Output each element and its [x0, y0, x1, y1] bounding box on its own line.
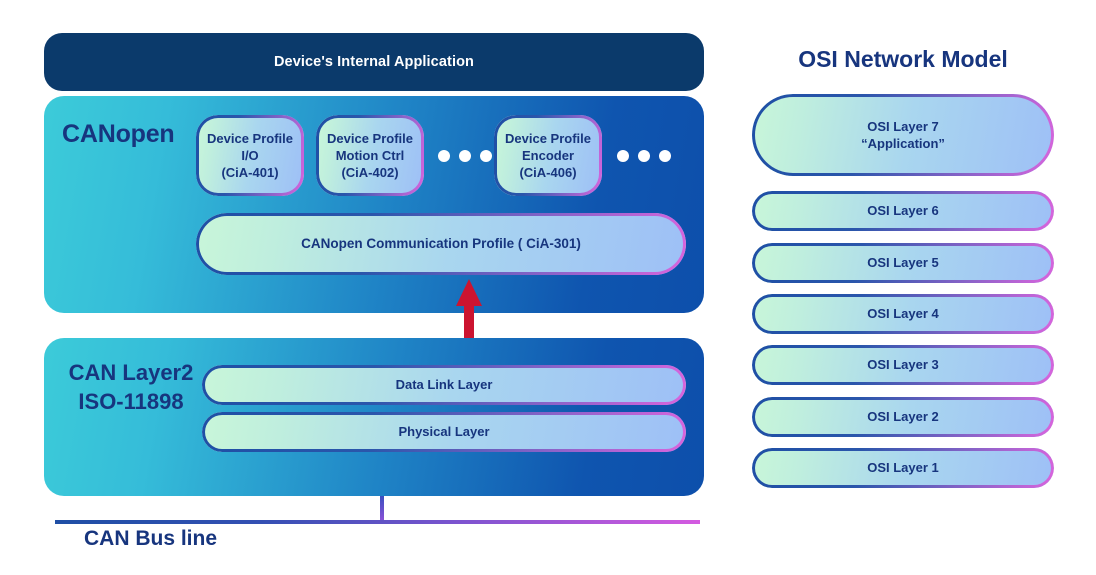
can-layer2-title-line2: ISO-11898	[78, 389, 183, 414]
osi-layer-2-label: OSI Layer 2	[867, 408, 939, 425]
dot-icon	[617, 150, 629, 162]
osi-layer-1-label: OSI Layer 1	[867, 459, 939, 476]
osi-layer-7-text: OSI Layer 7 “Application”	[861, 118, 945, 152]
can-bus-line	[55, 520, 700, 524]
dot-icon	[459, 150, 471, 162]
osi-layer-5-label: OSI Layer 5	[867, 254, 939, 271]
device-profile-io-line3: (CiA-401)	[221, 165, 278, 180]
can-layer2-panel: CAN Layer2 ISO-11898 Data Link Layer Phy…	[44, 338, 704, 496]
dot-icon	[638, 150, 650, 162]
device-profile-io-text: Device Profile I/O (CiA-401)	[207, 130, 293, 181]
osi-layer-1-box: OSI Layer 1	[752, 448, 1054, 488]
device-profile-motion-text: Device Profile Motion Ctrl (CiA-402)	[327, 130, 413, 181]
data-link-layer-bar: Data Link Layer	[202, 365, 686, 405]
can-bus-line-label: CAN Bus line	[84, 527, 217, 551]
can-layer2-title-line1: CAN Layer2	[69, 360, 194, 385]
canopen-communication-profile-bar: CANopen Communication Profile ( CiA-301)	[196, 213, 686, 275]
dot-icon	[438, 150, 450, 162]
osi-layer-3-label: OSI Layer 3	[867, 356, 939, 373]
device-profile-io-line1: Device Profile	[207, 131, 293, 146]
dot-icon	[480, 150, 492, 162]
app-bar-label: Device's Internal Application	[274, 54, 474, 70]
osi-layer-6-label: OSI Layer 6	[867, 202, 939, 219]
canopen-title: CANopen	[62, 120, 174, 149]
osi-layer-6-box: OSI Layer 6	[752, 191, 1054, 231]
ellipsis-dots-icon-1	[438, 150, 492, 162]
device-profile-encoder-line1: Device Profile	[505, 131, 591, 146]
osi-layer-4-label: OSI Layer 4	[867, 305, 939, 322]
dot-icon	[659, 150, 671, 162]
device-profile-motion-line2: Motion Ctrl	[336, 148, 405, 163]
physical-layer-label: Physical Layer	[398, 423, 489, 440]
device-profile-encoder-text: Device Profile Encoder (CiA-406)	[505, 130, 591, 181]
can-layer2-title: CAN Layer2 ISO-11898	[56, 358, 206, 416]
device-profile-motion-line1: Device Profile	[327, 131, 413, 146]
data-link-layer-label: Data Link Layer	[396, 376, 493, 393]
device-profile-encoder-line2: Encoder	[522, 148, 574, 163]
device-internal-application-bar: Device's Internal Application	[44, 33, 704, 91]
osi-layer-3-box: OSI Layer 3	[752, 345, 1054, 385]
canopen-communication-profile-label: CANopen Communication Profile ( CiA-301)	[301, 235, 581, 253]
physical-layer-bar: Physical Layer	[202, 412, 686, 452]
osi-layer-4-box: OSI Layer 4	[752, 294, 1054, 334]
device-profile-encoder-card: Device Profile Encoder (CiA-406)	[494, 115, 602, 196]
osi-layer-7-box: OSI Layer 7 “Application”	[752, 94, 1054, 176]
device-profile-encoder-line3: (CiA-406)	[519, 165, 576, 180]
osi-layer-7-line2: “Application”	[861, 136, 945, 151]
ellipsis-dots-icon-2	[617, 150, 671, 162]
device-profile-motion-card: Device Profile Motion Ctrl (CiA-402)	[316, 115, 424, 196]
osi-network-model-title: OSI Network Model	[752, 46, 1054, 73]
osi-layer-2-box: OSI Layer 2	[752, 397, 1054, 437]
osi-layer-7-line1: OSI Layer 7	[867, 119, 939, 134]
bus-connector-line	[380, 496, 384, 522]
device-profile-io-line2: I/O	[241, 148, 258, 163]
device-profile-motion-line3: (CiA-402)	[341, 165, 398, 180]
canopen-panel: CANopen Device Profile I/O (CiA-401) Dev…	[44, 96, 704, 313]
osi-layer-5-box: OSI Layer 5	[752, 243, 1054, 283]
device-profile-io-card: Device Profile I/O (CiA-401)	[196, 115, 304, 196]
